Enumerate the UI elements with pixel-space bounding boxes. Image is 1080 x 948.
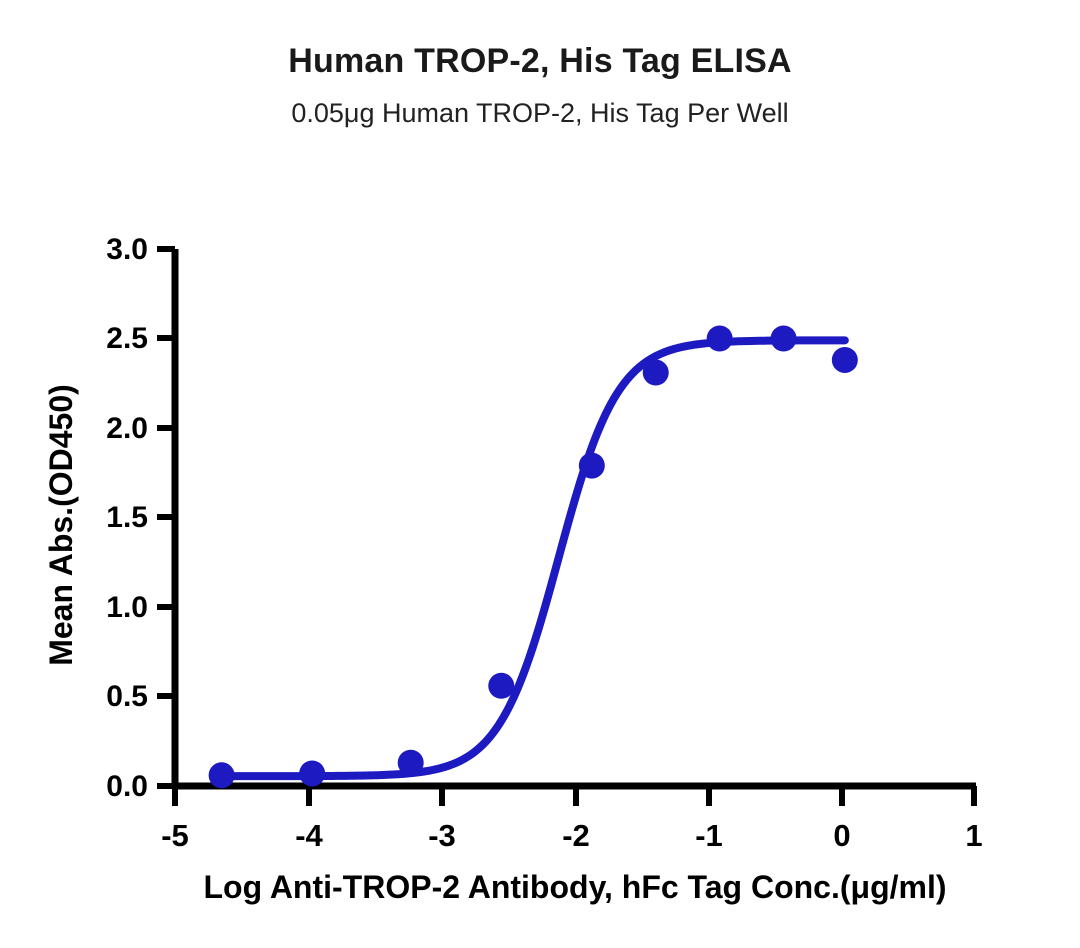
data-point [209, 762, 235, 788]
y-tick-label: 0.5 [106, 680, 148, 713]
data-point [832, 347, 858, 373]
plot-area: 3.0 2.5 2.0 1.5 1.0 0.5 0.0 -5 -4 -3 -2 … [0, 0, 1080, 948]
x-tick-label: -3 [428, 818, 456, 853]
x-axis-title: Log Anti-TROP-2 Antibody, hFc Tag Conc.(… [203, 869, 946, 905]
elisa-chart-figure: Human TROP-2, His Tag ELISA 0.05μg Human… [0, 0, 1080, 948]
data-point [643, 360, 669, 386]
data-point [707, 326, 733, 352]
y-tick-label: 1.0 [106, 591, 148, 624]
y-axis-title: Mean Abs.(OD450) [43, 384, 79, 666]
x-tick-label: -4 [295, 818, 323, 853]
fit-curve [222, 340, 845, 776]
x-tick-label: -5 [161, 818, 189, 853]
x-tick-label: -1 [695, 818, 723, 853]
data-point [579, 453, 605, 479]
y-tick-label: 2.0 [106, 412, 148, 445]
data-point-markers [209, 326, 858, 789]
x-tick-label: -2 [562, 818, 590, 853]
y-tick-label: 2.5 [106, 322, 148, 355]
x-tick-label: 1 [965, 818, 982, 853]
y-tick-label: 3.0 [106, 233, 148, 266]
data-point [771, 326, 797, 352]
data-point [398, 750, 424, 776]
y-tick-label: 0.0 [106, 770, 148, 803]
data-point [488, 673, 514, 699]
data-point [299, 760, 325, 786]
x-tick-label: 0 [833, 818, 850, 853]
y-tick-label: 1.5 [106, 501, 148, 534]
